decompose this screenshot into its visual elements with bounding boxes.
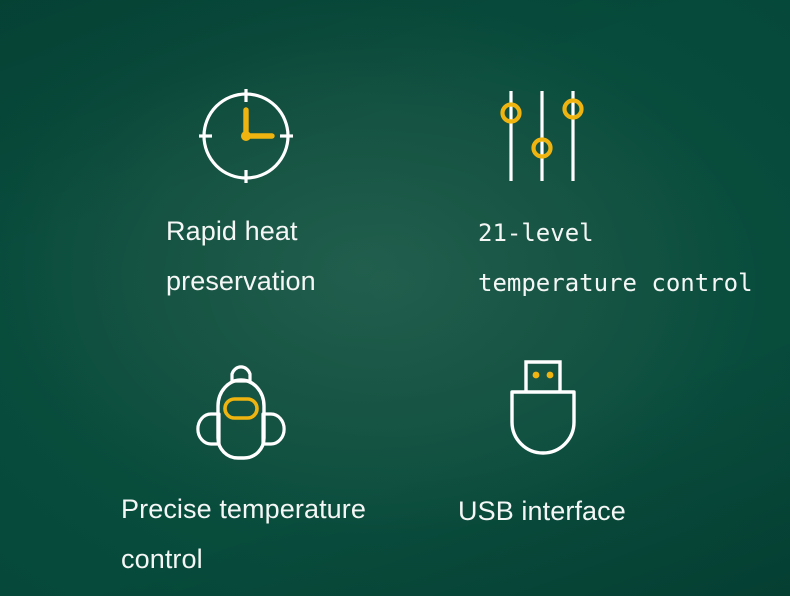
caption-line: temperature control [478, 258, 753, 308]
feature-highlight-panel: Rapid heat preservation 21-level tempera… [0, 0, 790, 596]
caption-line: Precise temperature [121, 484, 366, 534]
feature-caption-usb-interface: USB interface [458, 486, 626, 536]
caption-line: Rapid heat [166, 206, 316, 256]
feature-caption-temperature-level: 21-level temperature control [478, 208, 753, 308]
feature-caption-rapid-heat: Rapid heat preservation [166, 206, 316, 306]
backpack-icon [187, 352, 295, 462]
caption-line: preservation [166, 256, 316, 306]
caption-line: control [121, 534, 366, 584]
sliders-icon [497, 88, 587, 184]
caption-line: USB interface [458, 486, 626, 536]
usb-icon [503, 356, 583, 456]
clock-icon [196, 86, 296, 186]
feature-caption-precise-temperature: Precise temperature control [121, 484, 366, 584]
caption-line: 21-level [478, 208, 753, 258]
